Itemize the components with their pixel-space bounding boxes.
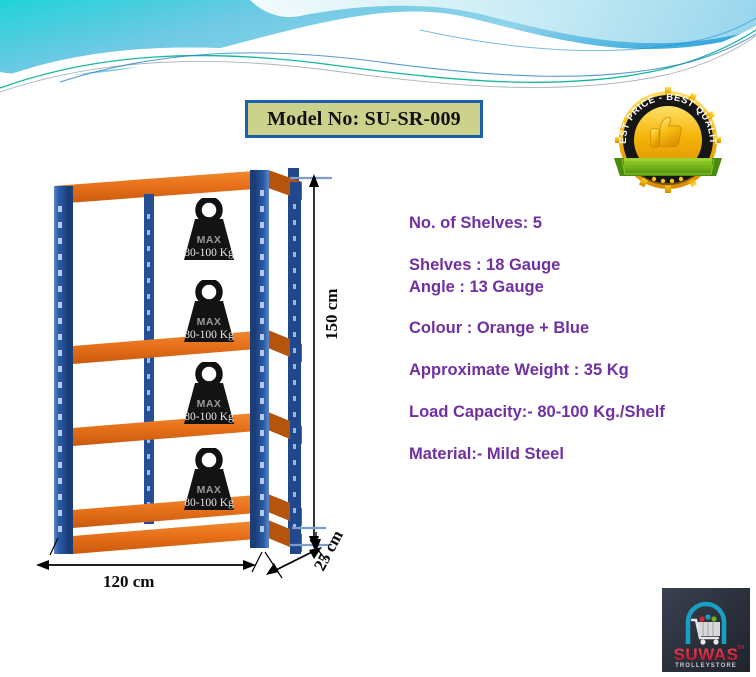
spec-approximate-weight: Approximate Weight : 35 Kg bbox=[409, 360, 739, 382]
weight-value-label: 80-100 Kg bbox=[178, 497, 240, 509]
logo-brand-text: SUWAS bbox=[674, 645, 739, 664]
spec-line: Approximate Weight : 35 Kg bbox=[409, 360, 739, 382]
weight-icon-1: MAX 80-100 Kg bbox=[178, 198, 240, 266]
upright-rear-left bbox=[144, 194, 154, 524]
weight-max-label: MAX bbox=[178, 484, 240, 496]
weight-value-label: 80-100 Kg bbox=[178, 329, 240, 341]
weight-max-label: MAX bbox=[178, 398, 240, 410]
upright-rear-right-depth bbox=[290, 182, 301, 554]
spec-load-capacity: Load Capacity:- 80-100 Kg./Shelf bbox=[409, 402, 739, 424]
weight-value-label: 80-100 Kg bbox=[178, 247, 240, 259]
spec-line: Shelves : 18 Gauge bbox=[409, 255, 739, 277]
upright-front-left bbox=[54, 186, 73, 554]
weight-icon-2: MAX 80-100 Kg bbox=[178, 280, 240, 348]
spec-line: Colour : Orange + Blue bbox=[409, 318, 739, 340]
dimension-height-label: 150 cm bbox=[322, 289, 342, 340]
spec-line: No. of Shelves: 5 bbox=[409, 213, 739, 235]
spec-line: Load Capacity:- 80-100 Kg./Shelf bbox=[409, 402, 739, 424]
best-price-best-quality-badge: BEST PRICE - BEST QUALITY bbox=[608, 82, 728, 200]
dimension-height-arrow bbox=[309, 174, 319, 549]
weight-max-label: MAX bbox=[178, 234, 240, 246]
header-wave-banner bbox=[0, 0, 756, 95]
spec-colour: Colour : Orange + Blue bbox=[409, 318, 739, 340]
logo-trademark: TM bbox=[737, 645, 744, 651]
spec-shelves-count: No. of Shelves: 5 bbox=[409, 213, 739, 235]
spec-material: Material:- Mild Steel bbox=[409, 444, 739, 466]
weight-value-label: 80-100 Kg bbox=[178, 411, 240, 423]
weight-max-label: MAX bbox=[178, 316, 240, 328]
badge-ribbon bbox=[614, 158, 722, 176]
specification-list: No. of Shelves: 5 Shelves : 18 Gauge Ang… bbox=[409, 213, 739, 485]
spec-gauge: Shelves : 18 Gauge Angle : 13 Gauge bbox=[409, 255, 739, 299]
model-number-label: Model No: SU-SR-009 bbox=[267, 108, 461, 131]
spec-line: Angle : 13 Gauge bbox=[409, 277, 739, 299]
weight-icon-3: MAX 80-100 Kg bbox=[178, 362, 240, 430]
weight-icon-4: MAX 80-100 Kg bbox=[178, 448, 240, 516]
model-number-box: Model No: SU-SR-009 bbox=[245, 100, 483, 138]
product-spec-page: Model No: SU-SR-009 bbox=[0, 0, 756, 677]
dimension-width-label: 120 cm bbox=[103, 572, 154, 592]
upright-front-right bbox=[250, 170, 269, 548]
company-logo: SUWAS TM TROLLEYSTORE bbox=[662, 588, 750, 672]
logo-tagline-text: TROLLEYSTORE bbox=[675, 663, 737, 669]
spec-line: Material:- Mild Steel bbox=[409, 444, 739, 466]
